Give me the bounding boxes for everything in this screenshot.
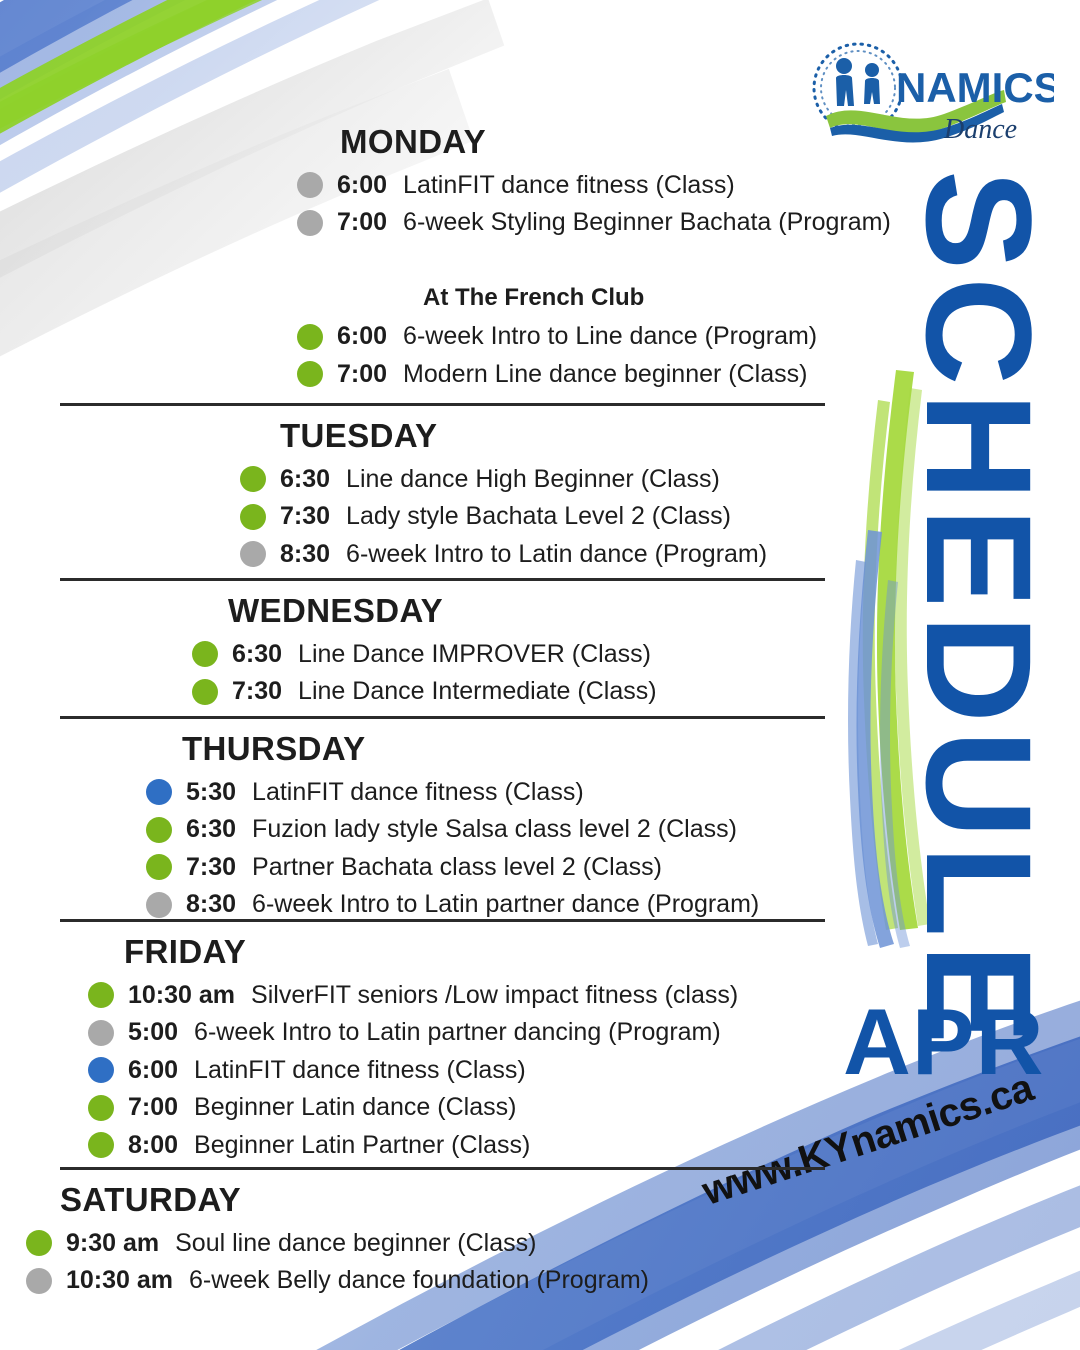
session-title: Modern Line dance beginner (Class) xyxy=(403,361,807,389)
session-row[interactable]: 7:00 6-week Styling Beginner Bachata (Pr… xyxy=(297,209,860,237)
session-time: 7:30 xyxy=(232,678,282,706)
session-row[interactable]: 10:30 am SilverFIT seniors /Low impact f… xyxy=(88,982,860,1010)
session-row[interactable]: 5:00 6-week Intro to Latin partner danci… xyxy=(88,1019,860,1047)
session-row[interactable]: 10:30 am 6-week Belly dance foundation (… xyxy=(26,1267,860,1295)
session-time: 10:30 am xyxy=(128,982,235,1010)
session-time: 6:30 xyxy=(186,816,236,844)
session-time: 8:00 xyxy=(128,1132,178,1160)
session-time: 7:30 xyxy=(186,854,236,882)
session-row[interactable]: 8:30 6-week Intro to Latin partner dance… xyxy=(146,891,860,919)
day-block-thursday: THURSDAY 5:30 LatinFIT dance fitness (Cl… xyxy=(0,731,860,919)
session-dot-green-icon xyxy=(88,1132,114,1158)
session-time: 5:30 xyxy=(186,779,236,807)
session-time: 6:00 xyxy=(128,1057,178,1085)
svg-text:Dance: Dance xyxy=(943,114,1017,145)
page-title-schedule: SCHEDULE xyxy=(884,170,1074,950)
session-time: 10:30 am xyxy=(66,1267,173,1295)
session-row[interactable]: 6:00 LatinFIT dance fitness (Class) xyxy=(297,172,860,200)
venue-subheading: At The French Club xyxy=(423,285,860,311)
section-divider xyxy=(60,578,825,581)
session-title: Line dance High Beginner (Class) xyxy=(346,466,720,494)
session-title: 6-week Intro to Latin dance (Program) xyxy=(346,541,767,569)
session-dot-green-icon xyxy=(192,641,218,667)
session-dot-blue-icon xyxy=(146,779,172,805)
session-dot-gray-icon xyxy=(146,892,172,918)
session-dot-gray-icon xyxy=(26,1268,52,1294)
session-time: 6:00 xyxy=(337,172,387,200)
svg-text:NAMICS: NAMICS xyxy=(896,64,1054,111)
session-row[interactable]: 6:00 6-week Intro to Line dance (Program… xyxy=(297,323,860,351)
day-block-tuesday: TUESDAY 6:30 Line dance High Beginner (C… xyxy=(0,418,860,568)
session-dot-green-icon xyxy=(88,982,114,1008)
session-title: 6-week Belly dance foundation (Program) xyxy=(189,1267,649,1295)
session-row[interactable]: 7:30 Lady style Bachata Level 2 (Class) xyxy=(240,503,860,531)
session-dot-blue-icon xyxy=(88,1057,114,1083)
session-dot-green-icon xyxy=(146,817,172,843)
session-dot-green-icon xyxy=(297,361,323,387)
day-title: MONDAY xyxy=(340,124,860,160)
session-row[interactable]: 6:30 Line Dance IMPROVER (Class) xyxy=(192,641,860,669)
session-time: 7:00 xyxy=(128,1094,178,1122)
day-block-saturday: SATURDAY 9:30 am Soul line dance beginne… xyxy=(0,1182,860,1295)
day-title: WEDNESDAY xyxy=(228,593,860,629)
session-title: LatinFIT dance fitness (Class) xyxy=(194,1057,526,1085)
session-dot-gray-icon xyxy=(297,172,323,198)
session-row[interactable]: 6:30 Fuzion lady style Salsa class level… xyxy=(146,816,860,844)
session-time: 5:00 xyxy=(128,1019,178,1047)
session-title: 6-week Intro to Line dance (Program) xyxy=(403,323,817,351)
session-row[interactable]: 7:30 Partner Bachata class level 2 (Clas… xyxy=(146,854,860,882)
day-title: TUESDAY xyxy=(280,418,860,454)
section-divider xyxy=(60,919,825,922)
session-time: 9:30 am xyxy=(66,1230,159,1258)
session-time: 6:30 xyxy=(280,466,330,494)
session-title: 6-week Intro to Latin partner dancing (P… xyxy=(194,1019,721,1047)
session-dot-green-icon xyxy=(297,324,323,350)
session-title: 6-week Styling Beginner Bachata (Program… xyxy=(403,209,891,237)
session-time: 6:30 xyxy=(232,641,282,669)
session-title: Line Dance IMPROVER (Class) xyxy=(298,641,651,669)
session-title: Beginner Latin dance (Class) xyxy=(194,1094,516,1122)
session-row[interactable]: 8:30 6-week Intro to Latin dance (Progra… xyxy=(240,541,860,569)
session-dot-green-icon xyxy=(26,1230,52,1256)
session-dot-green-icon xyxy=(240,466,266,492)
session-row[interactable]: 7:00 Beginner Latin dance (Class) xyxy=(88,1094,860,1122)
session-title: Lady style Bachata Level 2 (Class) xyxy=(346,503,731,531)
section-divider xyxy=(60,403,825,406)
session-row[interactable]: 7:30 Line Dance Intermediate (Class) xyxy=(192,678,860,706)
session-title: Beginner Latin Partner (Class) xyxy=(194,1132,530,1160)
session-dot-gray-icon xyxy=(240,541,266,567)
schedule-list: MONDAY 6:00 LatinFIT dance fitness (Clas… xyxy=(0,0,860,1350)
session-title: Fuzion lady style Salsa class level 2 (C… xyxy=(252,816,737,844)
day-title: FRIDAY xyxy=(124,934,860,970)
session-dot-gray-icon xyxy=(88,1020,114,1046)
session-row[interactable]: 8:00 Beginner Latin Partner (Class) xyxy=(88,1132,860,1160)
session-time: 7:30 xyxy=(280,503,330,531)
session-title: LatinFIT dance fitness (Class) xyxy=(252,779,584,807)
session-dot-green-icon xyxy=(192,679,218,705)
schedule-poster: NAMICS Dance SCHEDULE APR www.KYnamics.c… xyxy=(0,0,1080,1350)
session-dot-green-icon xyxy=(88,1095,114,1121)
day-title: THURSDAY xyxy=(182,731,860,767)
day-title: SATURDAY xyxy=(60,1182,860,1218)
session-dot-green-icon xyxy=(240,504,266,530)
session-time: 8:30 xyxy=(186,891,236,919)
session-time: 6:00 xyxy=(337,323,387,351)
session-row[interactable]: 7:00 Modern Line dance beginner (Class) xyxy=(297,361,860,389)
session-dot-green-icon xyxy=(146,854,172,880)
day-block-monday: MONDAY 6:00 LatinFIT dance fitness (Clas… xyxy=(0,124,860,388)
session-row[interactable]: 9:30 am Soul line dance beginner (Class) xyxy=(26,1230,860,1258)
section-divider xyxy=(60,716,825,719)
session-time: 7:00 xyxy=(337,209,387,237)
session-time: 7:00 xyxy=(337,361,387,389)
day-block-wednesday: WEDNESDAY 6:30 Line Dance IMPROVER (Clas… xyxy=(0,593,860,706)
section-divider xyxy=(60,1167,825,1170)
day-block-friday: FRIDAY 10:30 am SilverFIT seniors /Low i… xyxy=(0,934,860,1159)
session-row[interactable]: 5:30 LatinFIT dance fitness (Class) xyxy=(146,779,860,807)
session-title: Line Dance Intermediate (Class) xyxy=(298,678,657,706)
session-title: SilverFIT seniors /Low impact fitness (c… xyxy=(251,982,738,1010)
session-dot-gray-icon xyxy=(297,210,323,236)
session-title: 6-week Intro to Latin partner dance (Pro… xyxy=(252,891,759,919)
session-row[interactable]: 6:30 Line dance High Beginner (Class) xyxy=(240,466,860,494)
session-title: LatinFIT dance fitness (Class) xyxy=(403,172,735,200)
session-title: Partner Bachata class level 2 (Class) xyxy=(252,854,662,882)
session-time: 8:30 xyxy=(280,541,330,569)
session-title: Soul line dance beginner (Class) xyxy=(175,1230,536,1258)
session-row[interactable]: 6:00 LatinFIT dance fitness (Class) xyxy=(88,1057,860,1085)
